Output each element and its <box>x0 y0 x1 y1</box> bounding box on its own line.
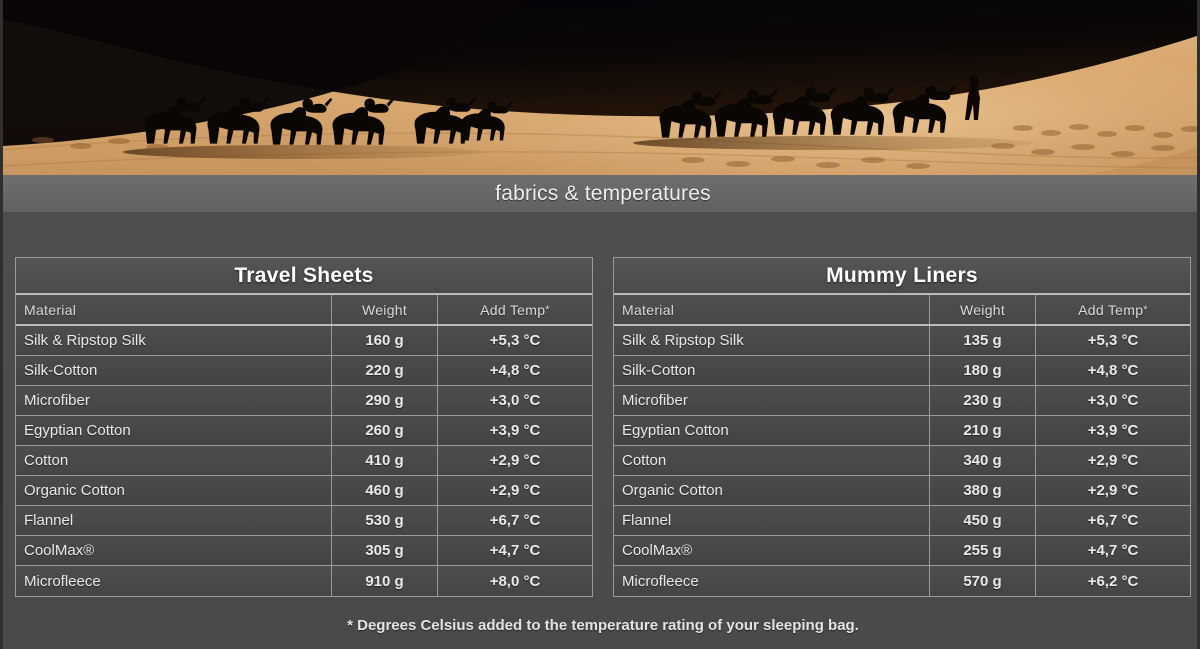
cell-weight: 910 g <box>332 566 438 596</box>
column-header-add-temp: Add Temp* <box>438 295 592 324</box>
table-row: Flannel450 g+6,7 °C <box>614 506 1190 536</box>
cell-weight: 290 g <box>332 386 438 415</box>
table-row: Microfleece910 g+8,0 °C <box>16 566 592 596</box>
cell-temp: +3,0 °C <box>438 386 592 415</box>
cell-weight: 210 g <box>930 416 1036 445</box>
desert-camel-banner-image <box>3 0 1200 175</box>
cell-material: Cotton <box>16 446 332 475</box>
cell-temp: +3,9 °C <box>1036 416 1190 445</box>
cell-material: Microfiber <box>614 386 930 415</box>
cell-weight: 220 g <box>332 356 438 385</box>
table-row: Silk & Ripstop Silk135 g+5,3 °C <box>614 326 1190 356</box>
cell-weight: 380 g <box>930 476 1036 505</box>
cell-temp: +2,9 °C <box>438 476 592 505</box>
cell-temp: +4,7 °C <box>1036 536 1190 565</box>
cell-weight: 340 g <box>930 446 1036 475</box>
table-row: Microfiber230 g+3,0 °C <box>614 386 1190 416</box>
cell-weight: 570 g <box>930 566 1036 596</box>
column-header-row: Material Weight Add Temp* <box>614 295 1190 326</box>
table-row: Organic Cotton380 g+2,9 °C <box>614 476 1190 506</box>
table-title-mummy-liners: Mummy Liners <box>614 258 1190 295</box>
column-header-weight: Weight <box>930 295 1036 324</box>
column-header-add-temp-label: Add Temp <box>1078 302 1143 318</box>
footnote-marker-icon: * <box>545 304 550 316</box>
cell-material: Egyptian Cotton <box>614 416 930 445</box>
cell-temp: +3,9 °C <box>438 416 592 445</box>
cell-temp: +4,8 °C <box>1036 356 1190 385</box>
content-area: Travel Sheets Material Weight Add Temp* … <box>3 212 1200 649</box>
cell-weight: 410 g <box>332 446 438 475</box>
cell-temp: +6,2 °C <box>1036 566 1190 596</box>
cell-material: Silk-Cotton <box>614 356 930 385</box>
footnote-text: Degrees Celsius added to the temperature… <box>357 617 859 634</box>
column-header-material: Material <box>16 295 332 324</box>
cell-material: Cotton <box>614 446 930 475</box>
cell-temp: +6,7 °C <box>438 506 592 535</box>
cell-material: Microfleece <box>614 566 930 596</box>
cell-temp: +4,7 °C <box>438 536 592 565</box>
cell-material: CoolMax® <box>16 536 332 565</box>
table-row: Silk-Cotton220 g+4,8 °C <box>16 356 592 386</box>
cell-material: CoolMax® <box>614 536 930 565</box>
column-header-weight: Weight <box>332 295 438 324</box>
table-row: Microfleece570 g+6,2 °C <box>614 566 1190 596</box>
cell-temp: +8,0 °C <box>438 566 592 596</box>
cell-temp: +5,3 °C <box>438 326 592 355</box>
cell-weight: 255 g <box>930 536 1036 565</box>
table-row: Egyptian Cotton210 g+3,9 °C <box>614 416 1190 446</box>
fabrics-temperatures-page: fabrics & temperatures Travel Sheets Mat… <box>0 0 1200 649</box>
table-row: Silk & Ripstop Silk160 g+5,3 °C <box>16 326 592 356</box>
cell-material: Silk & Ripstop Silk <box>614 326 930 355</box>
table-row: Microfiber290 g+3,0 °C <box>16 386 592 416</box>
cell-material: Organic Cotton <box>614 476 930 505</box>
table-row: Flannel530 g+6,7 °C <box>16 506 592 536</box>
cell-weight: 450 g <box>930 506 1036 535</box>
table-travel-sheets: Travel Sheets Material Weight Add Temp* … <box>15 257 593 597</box>
cell-weight: 305 g <box>332 536 438 565</box>
cell-temp: +3,0 °C <box>1036 386 1190 415</box>
table-row: CoolMax®305 g+4,7 °C <box>16 536 592 566</box>
table-title-travel-sheets: Travel Sheets <box>16 258 592 295</box>
cell-weight: 530 g <box>332 506 438 535</box>
cell-material: Microfleece <box>16 566 332 596</box>
cell-temp: +6,7 °C <box>1036 506 1190 535</box>
footnote-marker: * <box>347 617 353 634</box>
column-header-add-temp: Add Temp* <box>1036 295 1190 324</box>
cell-temp: +4,8 °C <box>438 356 592 385</box>
footnote-marker-icon: * <box>1143 304 1148 316</box>
column-header-material: Material <box>614 295 930 324</box>
cell-weight: 135 g <box>930 326 1036 355</box>
cell-temp: +2,9 °C <box>438 446 592 475</box>
table-body-travel-sheets: Silk & Ripstop Silk160 g+5,3 °C Silk-Cot… <box>16 326 592 596</box>
column-header-row: Material Weight Add Temp* <box>16 295 592 326</box>
section-title-bar: fabrics & temperatures <box>3 175 1200 212</box>
cell-weight: 260 g <box>332 416 438 445</box>
cell-material: Flannel <box>614 506 930 535</box>
table-row: Cotton340 g+2,9 °C <box>614 446 1190 476</box>
cell-temp: +2,9 °C <box>1036 476 1190 505</box>
cell-material: Flannel <box>16 506 332 535</box>
tables-container: Travel Sheets Material Weight Add Temp* … <box>15 257 1191 597</box>
table-body-mummy-liners: Silk & Ripstop Silk135 g+5,3 °C Silk-Cot… <box>614 326 1190 596</box>
table-mummy-liners: Mummy Liners Material Weight Add Temp* S… <box>613 257 1191 597</box>
cell-weight: 460 g <box>332 476 438 505</box>
cell-temp: +5,3 °C <box>1036 326 1190 355</box>
footnote: * Degrees Celsius added to the temperatu… <box>3 617 1200 634</box>
page-title: fabrics & temperatures <box>495 182 711 206</box>
cell-weight: 160 g <box>332 326 438 355</box>
cell-weight: 180 g <box>930 356 1036 385</box>
cell-material: Silk-Cotton <box>16 356 332 385</box>
cell-temp: +2,9 °C <box>1036 446 1190 475</box>
cell-weight: 230 g <box>930 386 1036 415</box>
table-row: Egyptian Cotton260 g+3,9 °C <box>16 416 592 446</box>
cell-material: Organic Cotton <box>16 476 332 505</box>
cell-material: Egyptian Cotton <box>16 416 332 445</box>
cell-material: Microfiber <box>16 386 332 415</box>
table-row: CoolMax®255 g+4,7 °C <box>614 536 1190 566</box>
table-row: Organic Cotton460 g+2,9 °C <box>16 476 592 506</box>
banner-illustration <box>3 0 1200 175</box>
table-row: Silk-Cotton180 g+4,8 °C <box>614 356 1190 386</box>
column-header-add-temp-label: Add Temp <box>480 302 545 318</box>
cell-material: Silk & Ripstop Silk <box>16 326 332 355</box>
table-row: Cotton410 g+2,9 °C <box>16 446 592 476</box>
